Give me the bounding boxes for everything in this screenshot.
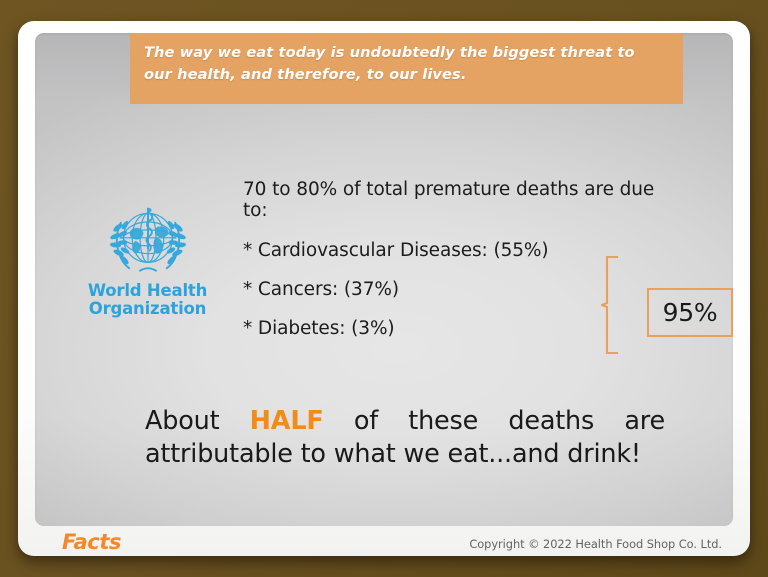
who-logo: World Health Organization (75, 203, 220, 318)
brand-logo-facts: Facts (62, 530, 121, 554)
headline: About HALF of these deaths are attributa… (145, 405, 665, 471)
fact-item-cancers: * Cancers: (37%) (243, 279, 663, 300)
slide-card: The way we eat today is undoubtedly the … (18, 21, 750, 556)
percent-callout-box: 95% (647, 288, 733, 337)
headline-after-text: of these deaths are (354, 406, 665, 436)
who-organization-name: World Health Organization (75, 282, 220, 318)
who-emblem-icon (100, 203, 196, 279)
quote-banner-text: The way we eat today is undoubtedly the … (144, 42, 667, 86)
outer-frame: The way we eat today is undoubtedly the … (0, 0, 768, 577)
headline-line-2: attributable to what we eat...and drink! (145, 438, 665, 471)
copyright-text: Copyright © 2022 Health Food Shop Co. Lt… (469, 537, 722, 551)
slide-footer: Facts Copyright © 2022 Health Food Shop … (35, 526, 733, 556)
quote-banner: The way we eat today is undoubtedly the … (130, 33, 683, 104)
slide-surface: The way we eat today is undoubtedly the … (35, 33, 733, 526)
headline-accent-text: HALF (250, 406, 324, 436)
headline-before-text: About (145, 406, 219, 436)
facts-heading: 70 to 80% of total premature deaths are … (243, 179, 663, 221)
fact-item-diabetes: * Diabetes: (3%) (243, 318, 663, 339)
headline-line-1: About HALF of these deaths are (145, 405, 665, 438)
percent-callout-value: 95% (663, 298, 718, 327)
fact-item-cardiovascular: * Cardiovascular Diseases: (55%) (243, 240, 663, 261)
facts-list: 70 to 80% of total premature deaths are … (243, 179, 663, 339)
curly-brace-icon (601, 255, 627, 355)
